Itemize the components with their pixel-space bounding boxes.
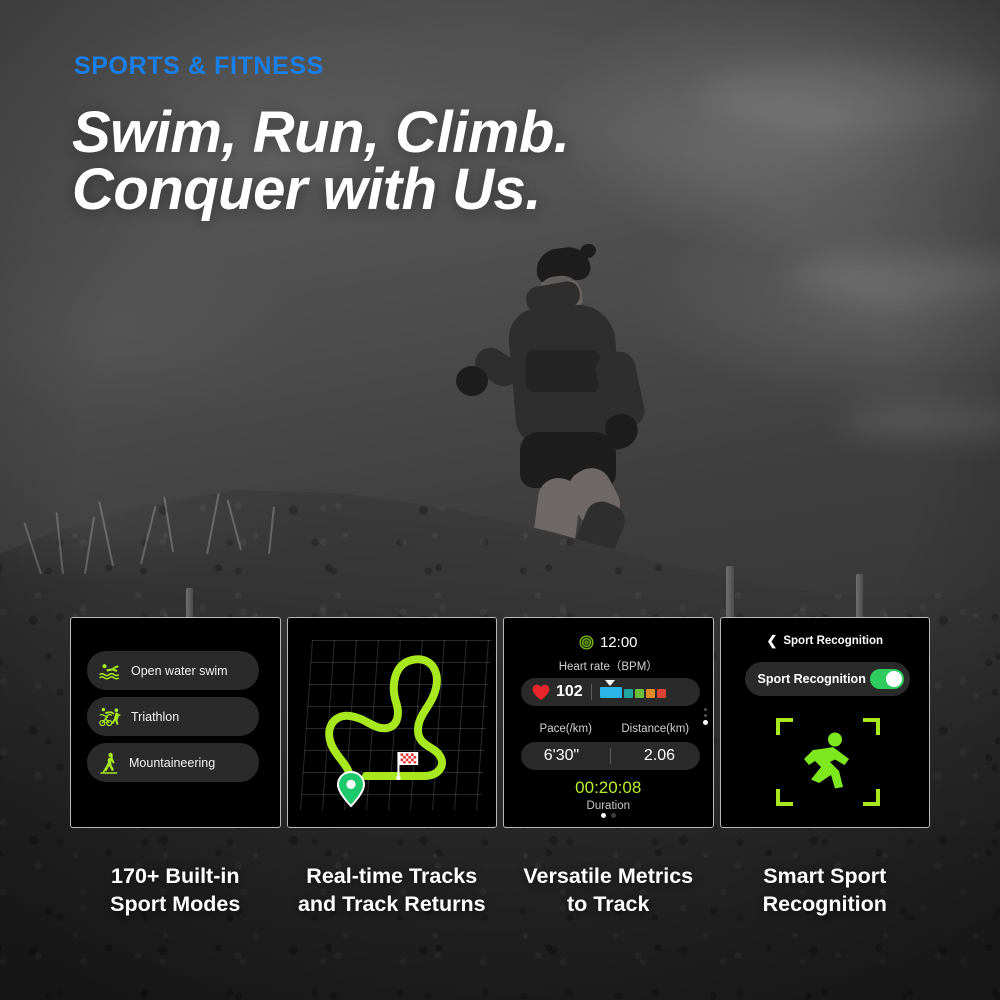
scan-corner xyxy=(776,718,793,735)
divider xyxy=(591,684,592,700)
pace-distance-captions: Pace(/km) Distance(km) xyxy=(521,723,700,735)
duration-label: Duration xyxy=(504,800,713,812)
scroll-dot xyxy=(704,708,707,711)
card-versatile-metrics: 12:00 Heart rate（BPM） 102 Pace(/km) Dist… xyxy=(503,617,714,828)
section-eyebrow: SPORTS & FITNESS xyxy=(74,52,324,81)
sport-mode-list: Open water swim Triathlon xyxy=(87,651,259,782)
zone-bar xyxy=(657,689,666,698)
route-path xyxy=(288,618,498,828)
list-item[interactable]: Open water swim xyxy=(87,651,259,690)
screen-header: ❮ Sport Recognition xyxy=(721,634,930,647)
location-pin-icon xyxy=(336,770,366,808)
clock-time: 12:00 xyxy=(600,634,638,651)
checkered-flag-icon xyxy=(394,748,424,780)
caption-line-1: 170+ Built-in xyxy=(70,862,281,890)
list-item-label: Mountaineering xyxy=(129,756,215,770)
zone-bar xyxy=(600,687,622,698)
heart-rate-caption: Heart rate（BPM） xyxy=(504,658,713,674)
screen-title: Sport Recognition xyxy=(783,635,883,647)
scan-frame xyxy=(776,718,880,806)
sport-recognition-toggle[interactable] xyxy=(870,669,904,689)
caption-versatile-metrics: Versatile Metrics to Track xyxy=(503,862,714,919)
card-sport-recognition: ❮ Sport Recognition Sport Recognition xyxy=(720,617,931,828)
caption-line-2: Sport Modes xyxy=(70,890,281,918)
triathlon-icon xyxy=(99,707,121,726)
caption-line-1: Smart Sport xyxy=(720,862,931,890)
divider xyxy=(610,748,611,764)
zone-bar xyxy=(624,689,633,698)
caption-row: 170+ Built-in Sport Modes Real-time Trac… xyxy=(70,862,930,919)
caption-line-2: Recognition xyxy=(720,890,931,918)
open-water-swim-icon xyxy=(99,662,121,680)
heart-rate-value: 102 xyxy=(556,683,583,701)
heart-rate-zone-bars xyxy=(600,687,666,698)
caption-line-1: Versatile Metrics xyxy=(503,862,714,890)
route-map[interactable] xyxy=(288,618,497,827)
page-indicator[interactable] xyxy=(504,813,713,818)
page-dot xyxy=(601,813,606,818)
list-item-label: Open water swim xyxy=(131,664,228,678)
mountaineering-icon xyxy=(99,752,119,774)
heart-icon xyxy=(532,684,550,701)
list-item[interactable]: Mountaineering xyxy=(87,743,259,782)
page-title: Swim, Run, Climb. Conquer with Us. xyxy=(72,104,569,219)
caption-sport-recognition: Smart Sport Recognition xyxy=(720,862,931,919)
heart-rate-row[interactable]: 102 xyxy=(521,678,700,706)
caption-line-2: and Track Returns xyxy=(287,890,498,918)
scroll-dot xyxy=(703,720,708,725)
scan-corner xyxy=(863,789,880,806)
scan-corner xyxy=(863,718,880,735)
distance-caption: Distance(km) xyxy=(611,723,701,735)
scroll-indicator[interactable] xyxy=(703,708,708,725)
pace-value: 6'30" xyxy=(521,747,602,765)
card-realtime-track xyxy=(287,617,498,828)
pace-caption: Pace(/km) xyxy=(521,723,611,735)
gps-signal-icon xyxy=(579,635,594,650)
feature-card-row: Open water swim Triathlon xyxy=(70,617,930,828)
scan-corner xyxy=(776,789,793,806)
chevron-left-icon[interactable]: ❮ xyxy=(766,634,777,647)
page-dot xyxy=(611,813,616,818)
scroll-dot xyxy=(704,714,707,717)
caption-line-2: to Track xyxy=(503,890,714,918)
caption-sport-modes: 170+ Built-in Sport Modes xyxy=(70,862,281,919)
caption-realtime-track: Real-time Tracks and Track Returns xyxy=(287,862,498,919)
toggle-knob xyxy=(886,671,902,687)
sport-recognition-toggle-row[interactable]: Sport Recognition xyxy=(745,662,910,696)
caption-line-1: Real-time Tracks xyxy=(287,862,498,890)
zone-bar xyxy=(635,689,644,698)
list-item[interactable]: Triathlon xyxy=(87,697,259,736)
zone-bar xyxy=(646,689,655,698)
zone-marker-icon xyxy=(605,680,615,686)
list-item-label: Triathlon xyxy=(131,710,179,724)
distance-value: 2.06 xyxy=(619,747,700,765)
running-person-icon xyxy=(797,731,859,793)
toggle-label: Sport Recognition xyxy=(758,672,866,686)
duration-value: 00:20:08 xyxy=(504,778,713,798)
status-row: 12:00 xyxy=(504,634,713,651)
card-sport-modes: Open water swim Triathlon xyxy=(70,617,281,828)
pace-distance-row[interactable]: 6'30" 2.06 xyxy=(521,742,700,770)
headline-line-1: Swim, Run, Climb. xyxy=(72,100,569,165)
headline-line-2: Conquer with Us. xyxy=(72,161,569,218)
